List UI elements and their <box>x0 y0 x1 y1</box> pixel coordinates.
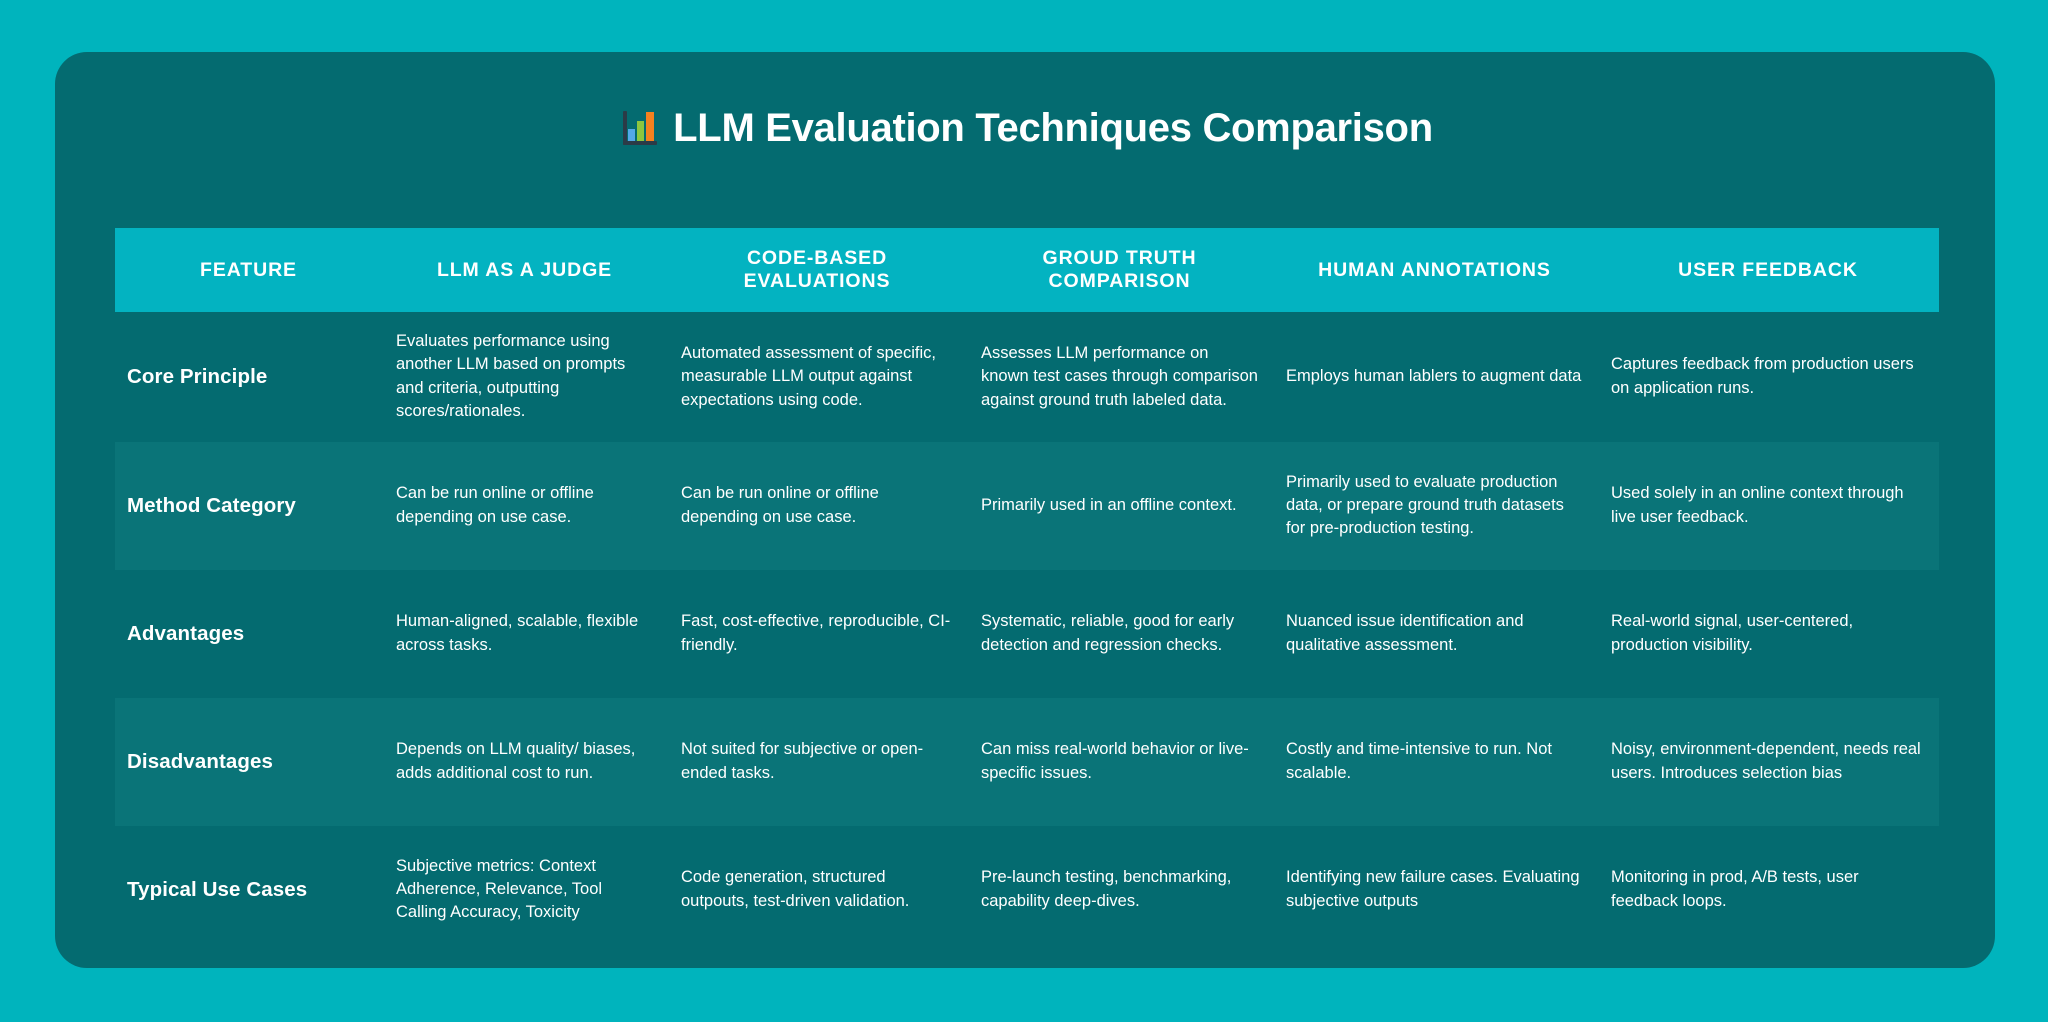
cell-method-category-ground-truth-comparison: Primarily used in an offline context. <box>967 442 1272 570</box>
table-row: Disadvantages Depends on LLM quality/ bi… <box>115 698 1939 826</box>
table-header-row: FEATURE LLM AS A JUDGE CODE-BASED EVALUA… <box>115 228 1939 312</box>
table-row: Typical Use Cases Subjective metrics: Co… <box>115 826 1939 954</box>
cell-core-principle-llm-as-a-judge: Evaluates performance using another LLM … <box>382 312 667 442</box>
row-label-method-category: Method Category <box>115 442 382 570</box>
column-header-code-based-evaluations[interactable]: CODE-BASED EVALUATIONS <box>667 228 967 312</box>
table-header: FEATURE LLM AS A JUDGE CODE-BASED EVALUA… <box>115 228 1939 312</box>
cell-core-principle-ground-truth-comparison: Assesses LLM performance on known test c… <box>967 312 1272 442</box>
row-label-core-principle: Core Principle <box>115 312 382 442</box>
column-header-feature[interactable]: FEATURE <box>115 228 382 312</box>
cell-core-principle-user-feedback: Captures feedback from production users … <box>1597 312 1939 442</box>
cell-typical-use-cases-ground-truth-comparison: Pre-launch testing, benchmarking, capabi… <box>967 826 1272 954</box>
comparison-table: FEATURE LLM AS A JUDGE CODE-BASED EVALUA… <box>115 228 1939 954</box>
column-header-human-annotations[interactable]: HUMAN ANNOTATIONS <box>1272 228 1597 312</box>
page-title: LLM Evaluation Techniques Comparison <box>55 105 1995 151</box>
cell-disadvantages-human-annotations: Costly and time-intensive to run. Not sc… <box>1272 698 1597 826</box>
column-header-user-feedback[interactable]: USER FEEDBACK <box>1597 228 1939 312</box>
column-header-llm-as-a-judge[interactable]: LLM AS A JUDGE <box>382 228 667 312</box>
row-label-advantages: Advantages <box>115 570 382 698</box>
cell-advantages-ground-truth-comparison: Systematic, reliable, good for early det… <box>967 570 1272 698</box>
cell-advantages-code-based-evaluations: Fast, cost-effective, reproducible, CI-f… <box>667 570 967 698</box>
cell-advantages-user-feedback: Real-world signal, user-centered, produc… <box>1597 570 1939 698</box>
cell-method-category-human-annotations: Primarily used to evaluate production da… <box>1272 442 1597 570</box>
row-label-typical-use-cases: Typical Use Cases <box>115 826 382 954</box>
cell-method-category-user-feedback: Used solely in an online context through… <box>1597 442 1939 570</box>
cell-core-principle-code-based-evaluations: Automated assessment of specific, measur… <box>667 312 967 442</box>
cell-advantages-human-annotations: Nuanced issue identification and qualita… <box>1272 570 1597 698</box>
cell-typical-use-cases-human-annotations: Identifying new failure cases. Evaluatin… <box>1272 826 1597 954</box>
table-row: Method Category Can be run online or off… <box>115 442 1939 570</box>
table-row: Advantages Human-aligned, scalable, flex… <box>115 570 1939 698</box>
cell-typical-use-cases-user-feedback: Monitoring in prod, A/B tests, user feed… <box>1597 826 1939 954</box>
cell-disadvantages-ground-truth-comparison: Can miss real-world behavior or live-spe… <box>967 698 1272 826</box>
table-row: Core Principle Evaluates performance usi… <box>115 312 1939 442</box>
cell-typical-use-cases-code-based-evaluations: Code generation, structured outpouts, te… <box>667 826 967 954</box>
comparison-card: LLM Evaluation Techniques Comparison FEA… <box>55 52 1995 968</box>
infographic-canvas: LLM Evaluation Techniques Comparison FEA… <box>0 0 2048 1022</box>
page-title-text: LLM Evaluation Techniques Comparison <box>673 108 1433 148</box>
table-body: Core Principle Evaluates performance usi… <box>115 312 1939 954</box>
cell-core-principle-human-annotations: Employs human lablers to augment data <box>1272 312 1597 442</box>
column-header-ground-truth-comparison[interactable]: GROUD TRUTH COMPARISON <box>967 228 1272 312</box>
bar-chart-icon <box>617 105 663 151</box>
cell-disadvantages-user-feedback: Noisy, environment-dependent, needs real… <box>1597 698 1939 826</box>
cell-method-category-llm-as-a-judge: Can be run online or offline depending o… <box>382 442 667 570</box>
cell-disadvantages-code-based-evaluations: Not suited for subjective or open-ended … <box>667 698 967 826</box>
cell-typical-use-cases-llm-as-a-judge: Subjective metrics: Context Adherence, R… <box>382 826 667 954</box>
cell-disadvantages-llm-as-a-judge: Depends on LLM quality/ biases, adds add… <box>382 698 667 826</box>
cell-method-category-code-based-evaluations: Can be run online or offline depending o… <box>667 442 967 570</box>
cell-advantages-llm-as-a-judge: Human-aligned, scalable, flexible across… <box>382 570 667 698</box>
row-label-disadvantages: Disadvantages <box>115 698 382 826</box>
